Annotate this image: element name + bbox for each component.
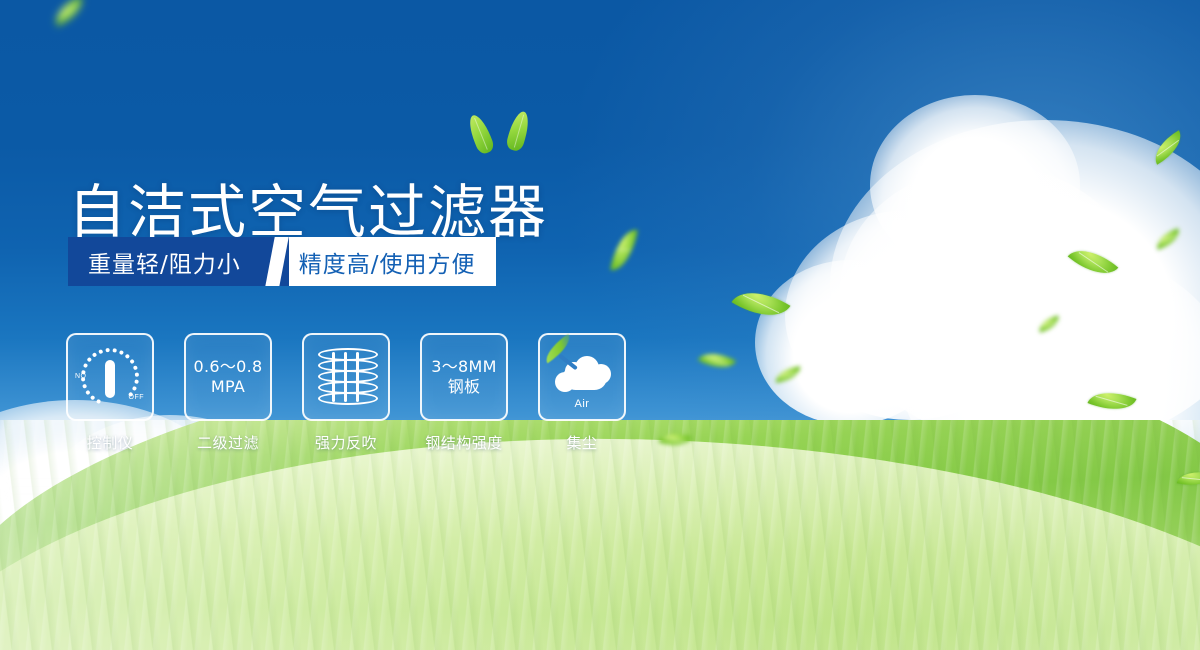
feature-item-steel[interactable]: 3～8MM 钢板 钢结构强度 [422,333,506,453]
steel-plate-text-icon: 3～8MM 钢板 [431,357,496,396]
grass-field [0,420,1200,650]
grass-texture-alt [0,420,1200,650]
feature-label: 强力反吹 [315,432,377,453]
sprout-leaves-icon [470,110,540,156]
gauge-label-no: NO [75,373,87,380]
page-title: 自洁式空气过滤器 [68,182,548,243]
pressure-text-icon: 0.6～0.8 MPA [194,357,263,396]
gauge-label-off: OFF [129,394,145,401]
gauge-dial-icon: NO OFF [76,346,144,408]
feature-icon-box: Air [538,333,626,421]
feature-label: 控制仪 [87,432,134,453]
steel-thickness: 3～8MM [431,357,496,376]
sprout-leaf-left [465,112,496,155]
feature-label: 集尘 [566,432,597,453]
filter-coil-icon [318,348,374,406]
cloud-air-icon: Air [549,346,615,408]
feature-label: 二级过滤 [197,432,259,453]
feature-item-backblow[interactable]: 强力反吹 [304,333,388,453]
subtitle-right-tag: 精度高/使用方便 [289,237,496,286]
sprout-leaf-right [505,109,532,152]
feature-icon-box: NO OFF [66,333,154,421]
subtitle-left-tag: 重量轻/阻力小 [68,237,263,286]
cloud-body [563,364,607,390]
pressure-range: 0.6～0.8 [194,357,263,376]
product-hero-banner: 自洁式空气过滤器 重量轻/阻力小 精度高/使用方便 [0,0,1200,650]
feature-icon-box [302,333,390,421]
feature-item-dustcollect[interactable]: Air 集尘 [540,333,624,453]
subtitle-bar: 重量轻/阻力小 精度高/使用方便 [68,237,496,286]
feature-icon-row: NO OFF 控制仪 0.6～0.8 MPA 二级过滤 [68,333,624,453]
feature-item-filtration[interactable]: 0.6～0.8 MPA 二级过滤 [186,333,270,453]
leaf-beam-icon [540,334,575,364]
air-caption: Air [549,398,615,410]
feature-item-controller[interactable]: NO OFF 控制仪 [68,333,152,453]
feature-icon-box: 3～8MM 钢板 [420,333,508,421]
feature-icon-box: 0.6～0.8 MPA [184,333,272,421]
gauge-needle [105,360,115,398]
pressure-unit: MPA [194,377,263,397]
feature-label: 钢结构强度 [425,432,503,453]
subtitle-divider-slash [263,237,289,286]
steel-material: 钢板 [431,377,496,397]
